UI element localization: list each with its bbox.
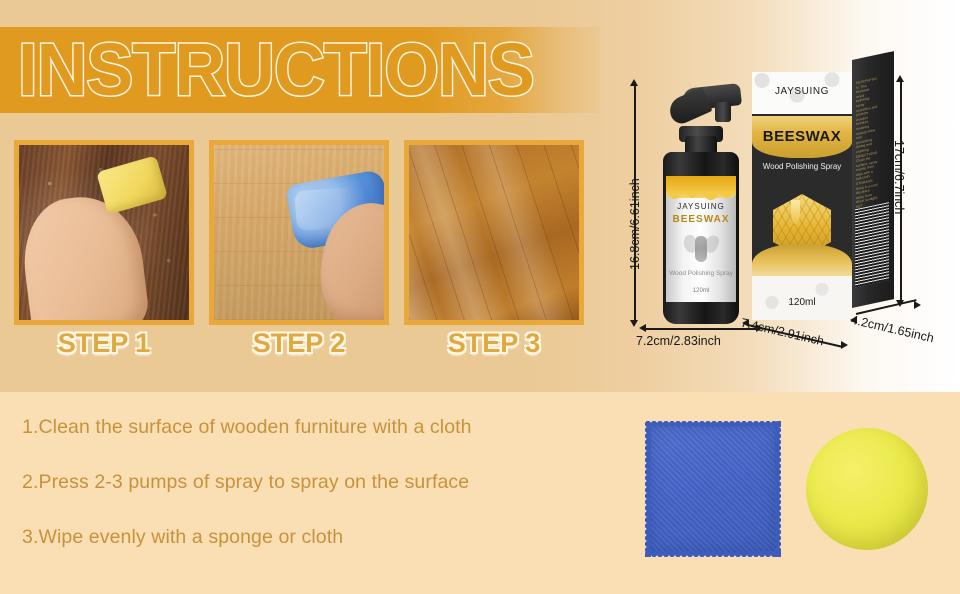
product-box: DESCRIPTION: This beeswax wood polishing… bbox=[752, 60, 894, 328]
spray-bottle: JAYSUING BEESWAX Wood Polishing Spray 12… bbox=[655, 78, 747, 326]
cloth-edge-left bbox=[645, 421, 651, 557]
box-product-name: BEESWAX bbox=[752, 128, 852, 145]
step-3-photo bbox=[409, 145, 579, 320]
cloth-edge-right bbox=[775, 421, 781, 557]
bottle-brand: JAYSUING bbox=[666, 202, 736, 211]
top-section: INSTRUCTIONS bbox=[0, 0, 960, 392]
instruction-line-1: 1.Clean the surface of wooden furniture … bbox=[22, 416, 622, 438]
instruction-line-2: 2.Press 2-3 pumps of spray to spray on t… bbox=[22, 471, 622, 493]
dimension-box-height-label: 17cm/6.7inch bbox=[892, 140, 906, 214]
box-side-text: DESCRIPTION: This beeswax wood polishing… bbox=[856, 76, 878, 218]
sprayer-nozzle bbox=[715, 102, 731, 122]
instructions-list: 1.Clean the surface of wooden furniture … bbox=[22, 416, 622, 581]
blue-microfiber-cloth-swatch bbox=[648, 424, 778, 554]
step-1-photo bbox=[19, 145, 189, 320]
step-card-2 bbox=[209, 140, 389, 325]
bee-body bbox=[695, 236, 707, 262]
bottle-product-name: BEESWAX bbox=[666, 214, 736, 225]
step-3-photo-frame bbox=[404, 140, 584, 325]
honey-drip-graphic bbox=[666, 176, 736, 198]
polished-floor bbox=[409, 145, 579, 320]
bottle-subtitle: Wood Polishing Spray bbox=[666, 270, 736, 278]
gold-curve-band bbox=[752, 244, 852, 278]
box-front-panel: JAYSUING BEESWAX Wood Polishing Spray 12… bbox=[752, 72, 852, 320]
instructions-infographic: INSTRUCTIONS bbox=[0, 0, 960, 594]
yellow-sponge-swatch bbox=[806, 428, 928, 550]
step-1-photo-frame bbox=[14, 140, 194, 325]
box-side-panel: DESCRIPTION: This beeswax wood polishing… bbox=[852, 51, 894, 308]
step-label-1: STEP 1 bbox=[14, 328, 194, 359]
step-2-photo bbox=[214, 145, 384, 320]
bottle-volume: 120ml bbox=[666, 288, 736, 294]
dimension-bottle-width-label: 7.2cm/2.83inch bbox=[636, 334, 721, 348]
dimension-bottle-height-label: 16.8cm/6.61inch bbox=[628, 178, 642, 270]
trigger-sprayer-head bbox=[669, 84, 741, 130]
bottom-section: 1.Clean the surface of wooden furniture … bbox=[0, 392, 960, 594]
step-2-photo-frame bbox=[209, 140, 389, 325]
barcode bbox=[855, 202, 889, 287]
step-label-3: STEP 3 bbox=[404, 328, 584, 359]
box-volume: 120ml bbox=[752, 297, 852, 308]
product-photo-area: JAYSUING BEESWAX Wood Polishing Spray 12… bbox=[600, 0, 960, 392]
step-label-2: STEP 2 bbox=[209, 328, 389, 359]
step-card-3 bbox=[404, 140, 584, 325]
box-subtitle: Wood Polishing Spray bbox=[752, 162, 852, 172]
box-brand: JAYSUING bbox=[752, 86, 852, 97]
step-photos: STEP 1 STEP 2 STEP 3 bbox=[0, 140, 600, 335]
page-title: INSTRUCTIONS bbox=[18, 28, 588, 112]
step-card-1 bbox=[14, 140, 194, 325]
bottle-label: JAYSUING BEESWAX Wood Polishing Spray 12… bbox=[666, 176, 736, 302]
bee-icon bbox=[683, 230, 719, 266]
instruction-line-3: 3.Wipe evenly with a sponge or cloth bbox=[22, 526, 622, 548]
